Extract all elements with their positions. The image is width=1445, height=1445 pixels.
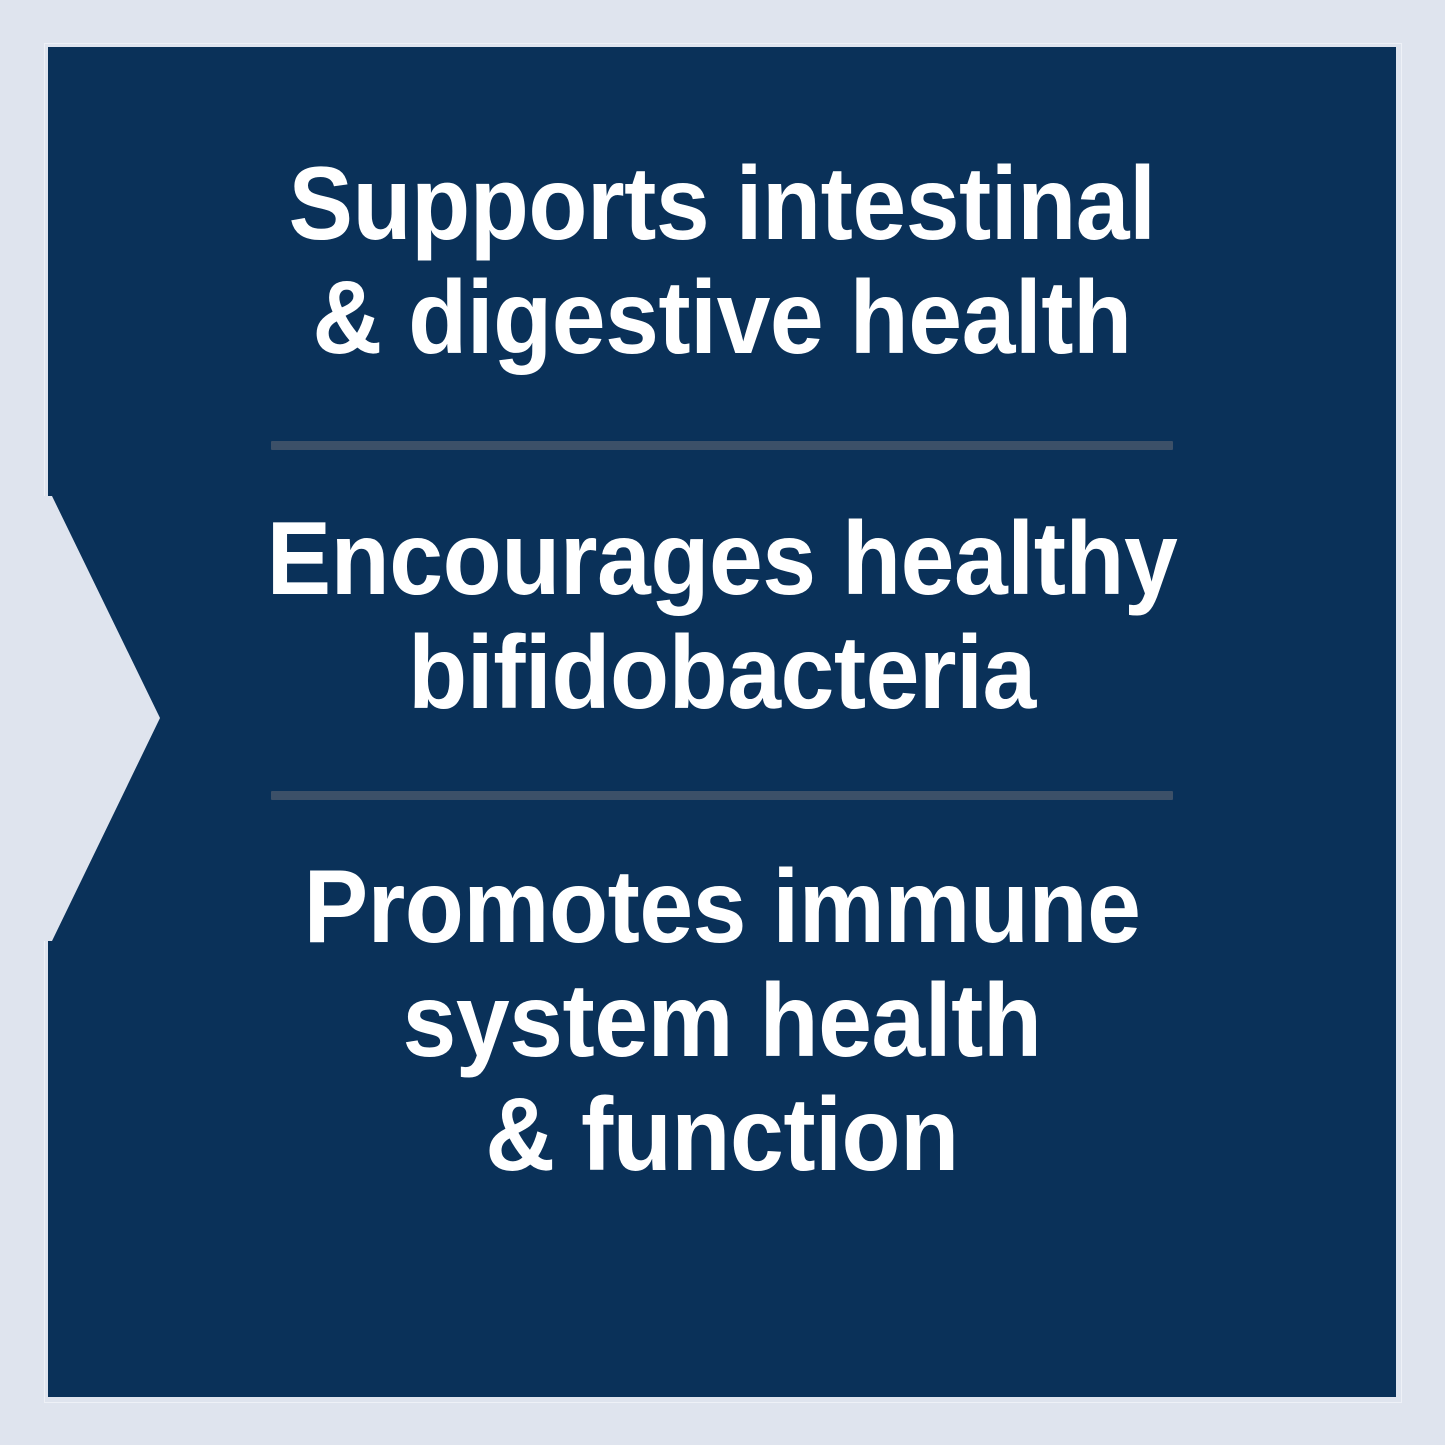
benefit-divider <box>271 441 1173 450</box>
benefit-divider <box>271 791 1173 800</box>
benefit-item-immune-system-health: Promotes immune system health & function <box>95 850 1349 1193</box>
benefits-panel-image: Supports intestinal & digestive health E… <box>0 0 1445 1445</box>
benefits-content: Supports intestinal & digestive health E… <box>48 47 1396 1397</box>
benefit-item-intestinal-digestive-health: Supports intestinal & digestive health <box>95 147 1349 376</box>
benefit-item-healthy-bifidobacteria: Encourages healthy bifidobacteria <box>95 502 1349 731</box>
